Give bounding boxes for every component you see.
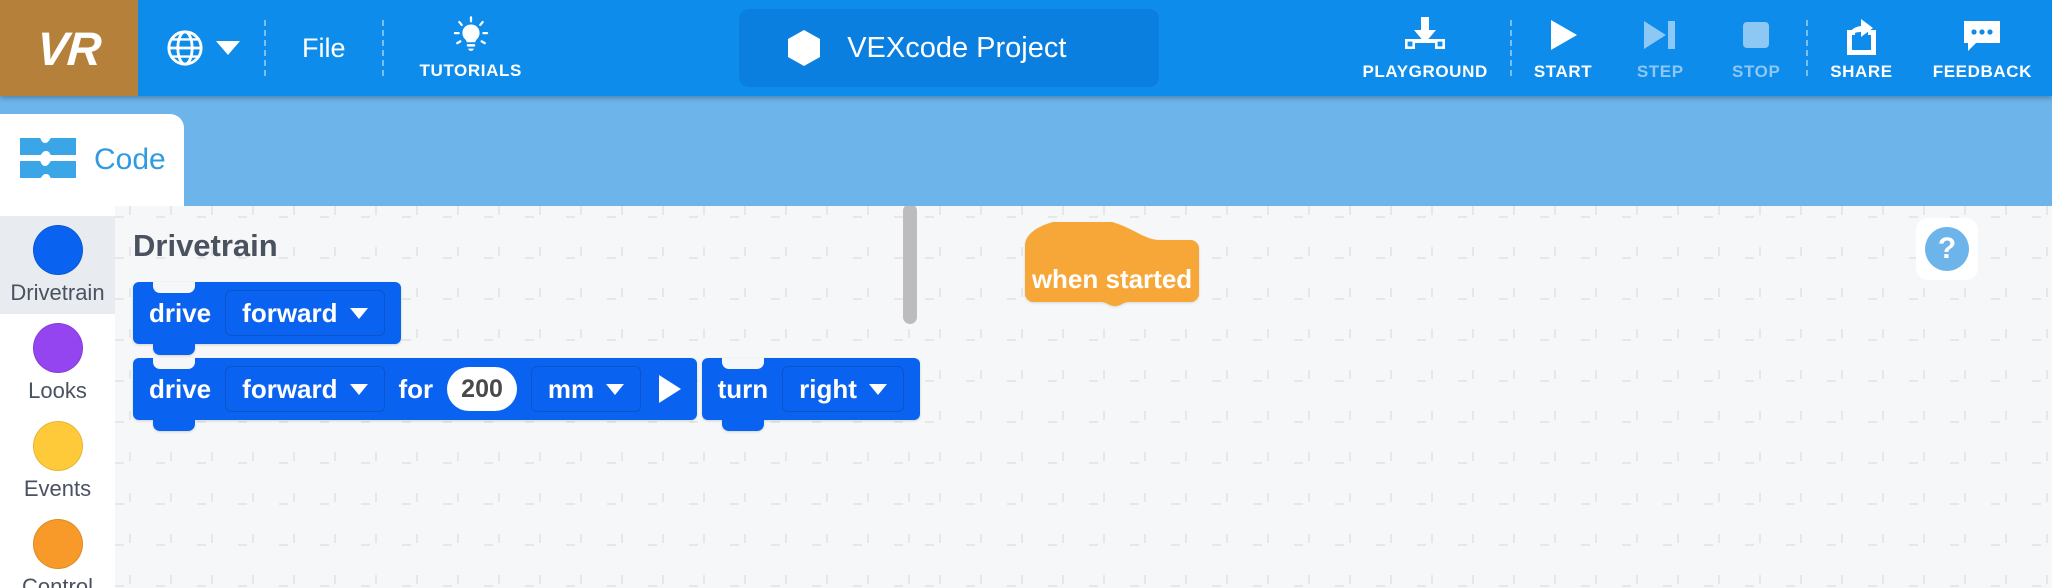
sidebar-item-events[interactable]: Events [0,412,115,510]
code-workspace[interactable]: when started [925,206,2052,588]
tab-code-label: Code [94,143,166,177]
code-blocks-icon [18,134,80,186]
language-selector[interactable] [138,0,262,96]
toolbar-spacer-left [556,0,739,96]
dropdown-value: right [799,374,857,405]
stop-button[interactable]: STOP [1708,0,1804,96]
toolbar-divider [382,20,384,76]
palette-scrollbar[interactable] [903,206,917,324]
playground-label: PLAYGROUND [1362,62,1487,82]
toolbar-right-group: PLAYGROUND START STEP STO [1342,0,2052,96]
sidebar-item-control[interactable]: Control [0,510,115,588]
file-menu-label: File [302,33,346,64]
turn-direction-dropdown[interactable]: right [782,366,904,412]
palette-block-list: drive forward drive forward for 200 [133,282,925,434]
top-toolbar: VR File [0,0,2052,96]
block-drive-for-distance[interactable]: drive forward for 200 mm [133,358,697,420]
step-forward-icon [1639,15,1681,57]
feedback-label: FEEDBACK [1933,62,2032,82]
block-label-for: for [399,374,434,405]
tab-code[interactable]: Code [0,114,184,206]
question-mark-icon: ? [1925,227,1969,271]
play-icon [1543,15,1583,57]
category-rail: Drivetrain Looks Events Control [0,206,115,588]
tutorials-button[interactable]: TUTORIALS [386,0,556,96]
sidebar-item-label: Drivetrain [10,280,104,306]
toolbar-spacer-right [1159,0,1342,96]
drivetrain-color-dot [33,225,83,275]
lightbulb-icon [450,15,492,57]
project-name-field[interactable]: VEXcode Project [739,9,1159,87]
stop-label: STOP [1732,62,1780,82]
tutorials-label: TUTORIALS [420,61,522,81]
globe-icon [166,29,204,67]
chevron-down-icon [869,384,887,395]
chevron-down-icon [606,384,624,395]
dropdown-value: forward [242,374,337,405]
block-when-started[interactable] [1025,222,1199,306]
step-label: STEP [1637,62,1684,82]
dropdown-value: forward [242,298,337,329]
sidebar-item-looks[interactable]: Looks [0,314,115,412]
start-button[interactable]: START [1514,0,1612,96]
download-playground-icon [1402,15,1448,57]
chevron-down-icon [216,41,240,55]
comment-icon [1960,15,2004,57]
block-palette[interactable]: Drivetrain drive forward drive forward [115,206,925,588]
share-icon [1840,15,1882,57]
playground-button[interactable]: PLAYGROUND [1342,0,1507,96]
dropdown-value: mm [548,374,594,405]
chevron-down-icon [350,308,368,319]
vr-logo: VR [0,0,138,96]
share-label: SHARE [1830,62,1893,82]
vr-logo-text: VR [36,25,103,72]
file-menu-button[interactable]: File [268,0,380,96]
direction-dropdown[interactable]: forward [225,366,384,412]
editor-body: Drivetrain Looks Events Control Drivetra… [0,206,2052,588]
hexagon-icon [787,29,821,67]
block-drive-direction[interactable]: drive forward [133,282,401,344]
start-label: START [1534,62,1592,82]
toolbar-left-group: File [138,0,556,96]
share-button[interactable]: SHARE [1810,0,1913,96]
toolbar-divider [1806,20,1808,76]
looks-color-dot [33,323,83,373]
vexcode-vr-window: VR File [0,0,2052,588]
block-label: drive [149,374,211,405]
toolbar-divider [1510,20,1512,76]
tab-band: Code ? [0,96,2052,206]
sidebar-item-label: Control [22,574,93,588]
feedback-button[interactable]: FEEDBACK [1913,0,2052,96]
distance-input[interactable]: 200 [447,367,517,411]
block-turn-direction[interactable]: turn right [702,358,920,420]
sidebar-item-drivetrain[interactable]: Drivetrain [0,216,115,314]
block-label: drive [149,298,211,329]
block-label: turn [718,374,769,405]
play-triangle-icon[interactable] [659,375,681,403]
palette-title: Drivetrain [133,228,278,264]
chevron-down-icon [350,384,368,395]
events-color-dot [33,421,83,471]
sidebar-item-label: Events [24,476,91,502]
control-color-dot [33,519,83,569]
toolbar-divider [264,20,266,76]
project-name-text: VEXcode Project [847,32,1066,65]
stop-square-icon [1736,15,1776,57]
unit-dropdown[interactable]: mm [531,366,641,412]
sidebar-item-label: Looks [28,378,87,404]
help-button[interactable]: ? [1916,218,1978,280]
direction-dropdown[interactable]: forward [225,290,384,336]
step-button[interactable]: STEP [1612,0,1708,96]
